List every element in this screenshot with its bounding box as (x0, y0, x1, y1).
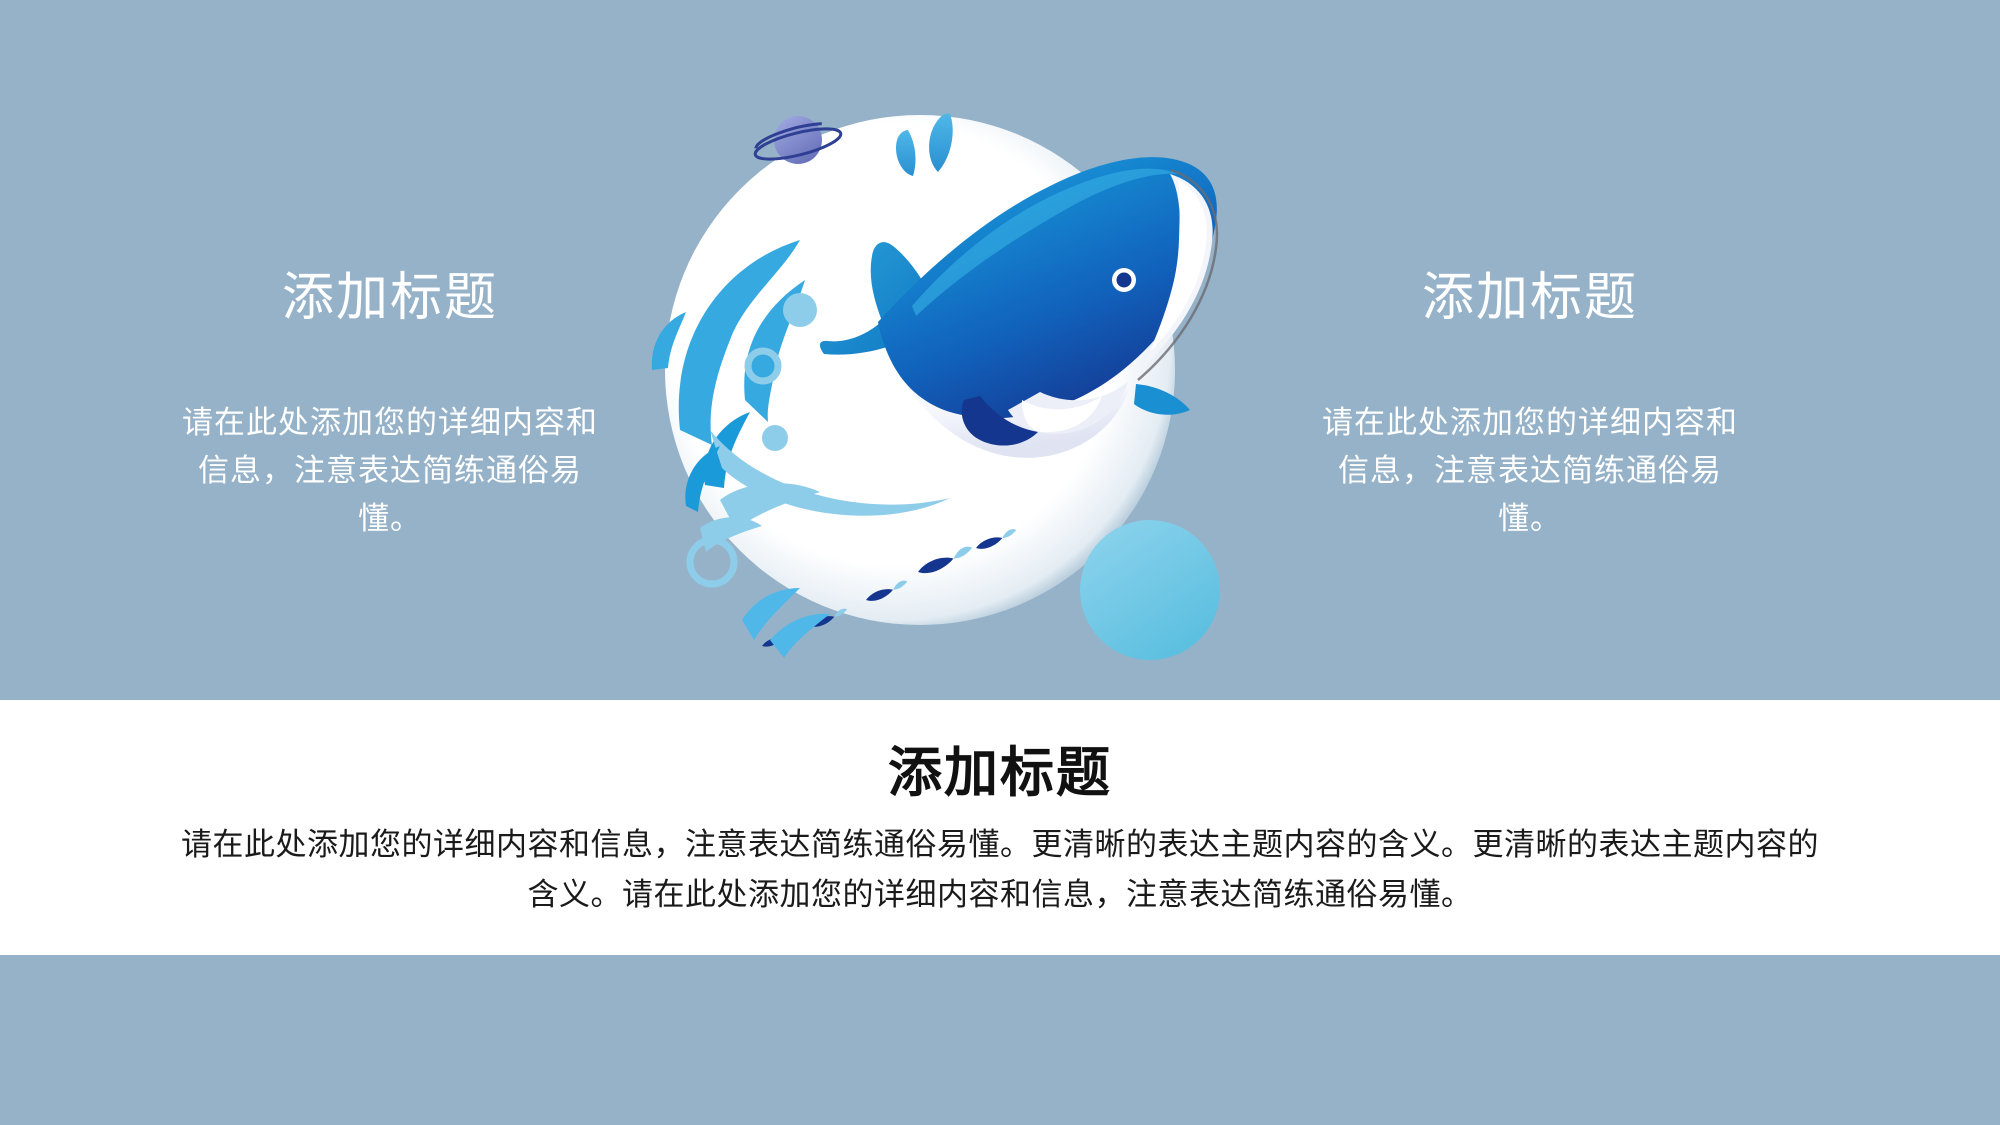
whale-illustration (650, 100, 1350, 660)
teal-circle-icon (1080, 520, 1220, 660)
whale-eye-icon (1112, 268, 1136, 292)
bottom-background-panel (0, 955, 2000, 1125)
bottom-title: 添加标题 (0, 728, 2000, 807)
right-body-text: 请在此处添加您的详细内容和信息，注意表达简练通俗易懂。 (1320, 399, 1740, 543)
left-body-text: 请在此处添加您的详细内容和信息，注意表达简练通俗易懂。 (180, 399, 600, 543)
left-title: 添加标题 (180, 270, 600, 327)
left-text-block: 添加标题 请在此处添加您的详细内容和信息，注意表达简练通俗易懂。 (180, 270, 600, 543)
slide-canvas: 添加标题 请在此处添加您的详细内容和信息，注意表达简练通俗易懂。 添加标题 请在… (0, 0, 2000, 1125)
bottom-body-text: 请在此处添加您的详细内容和信息，注意表达简练通俗易懂。更清晰的表达主题内容的含义… (180, 820, 1820, 920)
right-title: 添加标题 (1320, 270, 1740, 327)
right-text-block: 添加标题 请在此处添加您的详细内容和信息，注意表达简练通俗易懂。 (1320, 270, 1740, 543)
